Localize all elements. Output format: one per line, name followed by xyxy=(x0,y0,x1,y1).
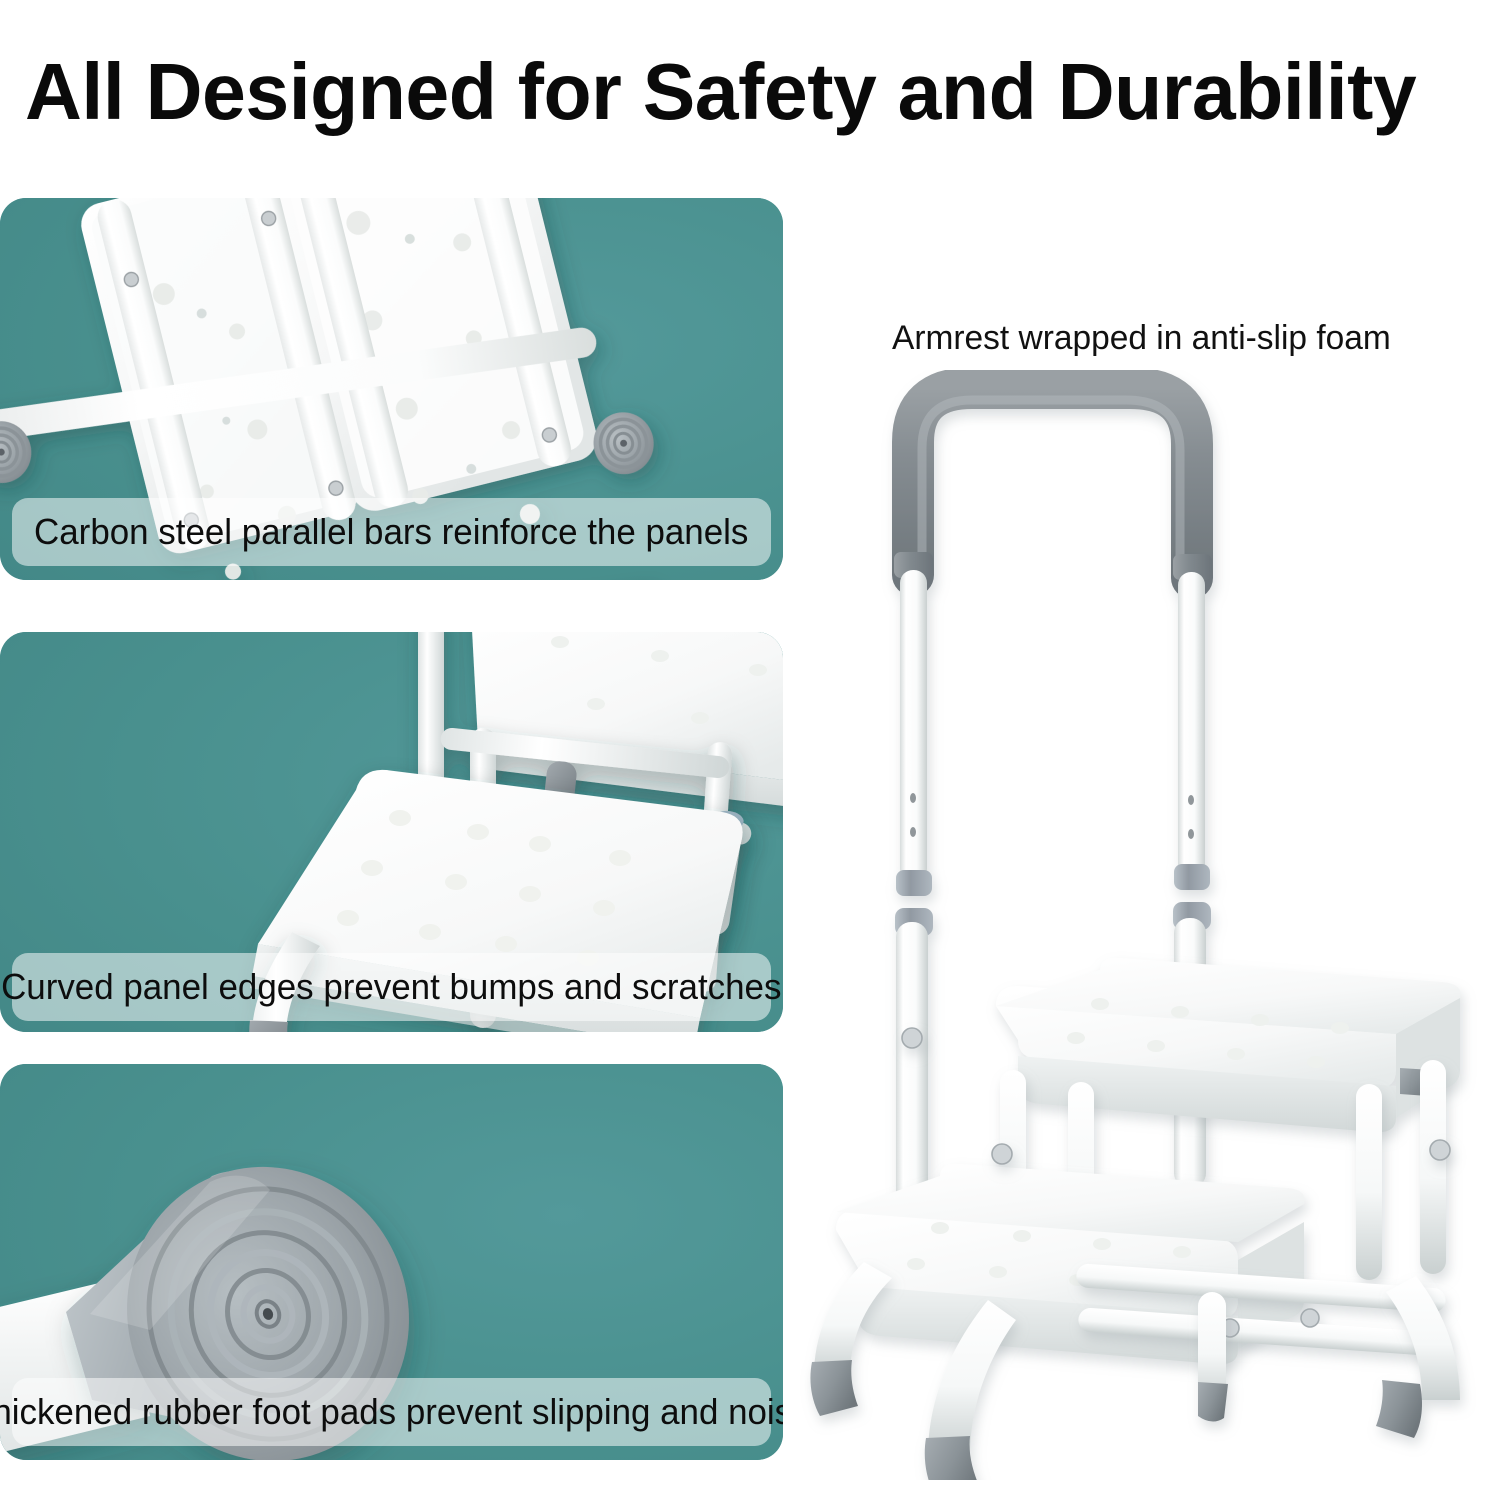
panel-caption-text: Curved panel edges prevent bumps and scr… xyxy=(1,967,781,1007)
hero-armrest-label: Armrest wrapped in anti-slip foam xyxy=(892,318,1391,358)
two-step-stool-with-handrail-photo xyxy=(800,370,1500,1480)
panel-caption-band: Carbon steel parallel bars reinforce the… xyxy=(12,498,771,566)
page-title: All Designed for Safety and Durability xyxy=(25,48,1463,136)
panel-caption-band: Curved panel edges prevent bumps and scr… xyxy=(12,953,771,1021)
feature-panel-rubber-foot-pad: Thickened rubber foot pads prevent slipp… xyxy=(0,1064,783,1460)
panel-caption-band: Thickened rubber foot pads prevent slipp… xyxy=(12,1378,771,1446)
panel-caption-text: Thickened rubber foot pads prevent slipp… xyxy=(0,1392,783,1432)
feature-panel-parallel-bars: Carbon steel parallel bars reinforce the… xyxy=(0,198,783,580)
hero-product-section: Armrest wrapped in anti-slip foam xyxy=(800,190,1500,1480)
panel-caption-text: Carbon steel parallel bars reinforce the… xyxy=(34,512,748,552)
feature-panel-curved-edges: Curved panel edges prevent bumps and scr… xyxy=(0,632,783,1032)
